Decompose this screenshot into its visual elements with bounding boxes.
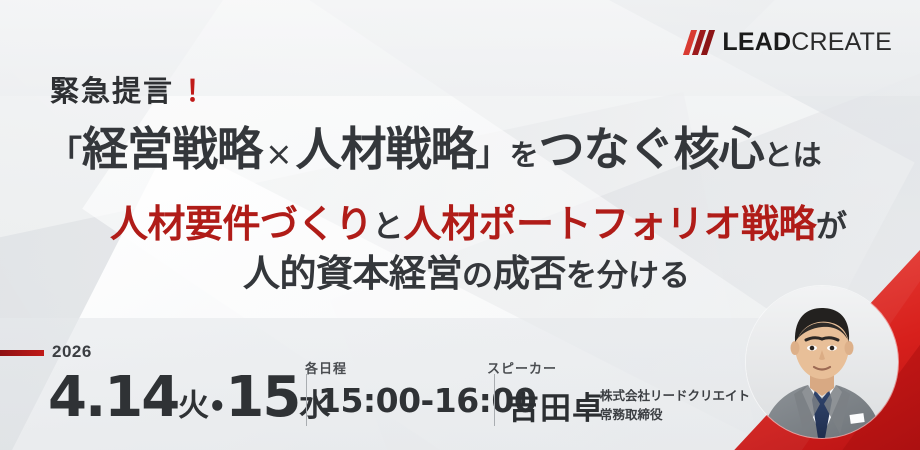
title-l2-seg-1: と — [373, 209, 404, 245]
title-l1-seg-3: 人材戦略 — [296, 122, 476, 176]
speaker-label: スピーカー — [487, 358, 557, 377]
eyebrow-text: 緊急提言 — [50, 74, 174, 108]
seminar-banner: LEADCREATE 緊急提言！ 「経営戦略×人材戦略」をつなぐ核心とは 人材要… — [0, 0, 920, 450]
title-line-2: 人材要件づくりと人材ポートフォリオ戦略が — [110, 205, 847, 243]
title-l1-seg-7: 核心 — [674, 122, 764, 176]
title-l1-seg-4: 」 — [476, 134, 510, 174]
date-seg-3: 15 — [225, 365, 299, 430]
divider-time — [306, 374, 307, 426]
title-l1-seg-6: つなぐ — [539, 122, 674, 176]
eyebrow-heading: 緊急提言！ — [50, 68, 209, 110]
logo-word-bold: LEAD — [722, 28, 791, 56]
speaker-portrait — [746, 286, 898, 438]
title-line-1: 「経営戦略×人材戦略」をつなぐ核心とは — [48, 126, 822, 172]
title-l3-seg-3: を分ける — [566, 258, 690, 294]
logo-wordmark: LEADCREATE — [722, 30, 892, 55]
brand-logo: LEADCREATE — [687, 30, 892, 55]
logo-bars-icon — [687, 30, 711, 55]
event-dates: 4.14火・15水 — [48, 370, 330, 426]
date-seg-0: 4.14 — [48, 365, 178, 430]
speaker-portrait-illustration — [746, 286, 898, 438]
title-l2-seg-0: 人材要件づくり — [110, 202, 373, 246]
divider-speaker — [494, 374, 495, 426]
title-line-3: 人的資本経営の成否を分ける — [243, 255, 690, 292]
date-seg-2: ・ — [209, 384, 225, 425]
title-l2-seg-2: 人材ポートフォリオ戦略 — [404, 202, 817, 246]
title-l1-seg-0: 「 — [48, 134, 82, 174]
title-l3-seg-0: 人的資本経営 — [243, 252, 462, 295]
title-l1-seg-8: とは — [764, 138, 822, 172]
title-l2-seg-3: が — [816, 209, 847, 245]
logo-word-light: CREATE — [791, 28, 892, 56]
speaker-role: 常務取締役 — [600, 406, 750, 425]
time-value: 15:00-16:00 — [318, 381, 536, 420]
speaker-name: 吉田卓 — [508, 383, 604, 428]
title-l3-seg-1: の — [462, 258, 493, 294]
time-label: 各日程 — [305, 358, 347, 377]
title-l1-seg-5: を — [510, 138, 539, 172]
title-l1-seg-1: 経営戦略 — [82, 122, 262, 176]
date-seg-1: 火 — [178, 388, 209, 424]
eyebrow-exclamation: ！ — [178, 74, 209, 108]
event-year: 2026 — [52, 342, 92, 362]
red-accent-dash — [0, 350, 44, 356]
title-l1-seg-2: × — [262, 134, 296, 173]
speaker-company: 株式会社リードクリエイト — [600, 387, 750, 406]
title-l3-seg-2: 成否 — [493, 252, 566, 295]
speaker-affiliation: 株式会社リードクリエイト 常務取締役 — [600, 387, 750, 425]
